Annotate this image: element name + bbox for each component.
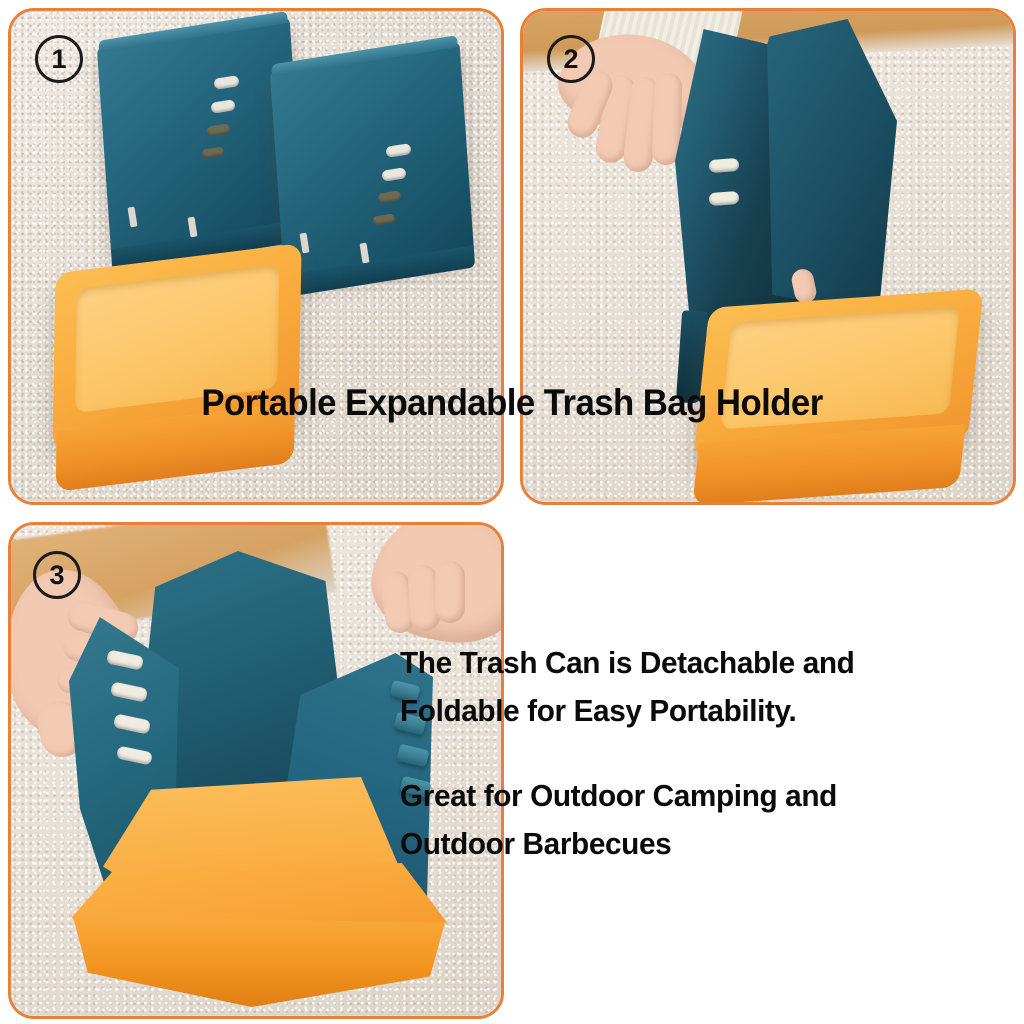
feature-line-1: The Trash Can is Detachable and [400, 643, 1000, 683]
product-title-overlay: Portable Expandable Trash Bag Holder [31, 382, 994, 424]
teal-folded-panel-left [97, 18, 304, 259]
panel-face [97, 18, 304, 259]
feature-line-3: Great for Outdoor Camping and [400, 776, 1000, 816]
infographic-canvas: 1 2 [0, 0, 1024, 1024]
lid-slot [709, 191, 740, 206]
feature-line-4: Outdoor Barbecues [400, 824, 1000, 864]
text-spacer [400, 738, 1000, 776]
step-number-badge-2: 2 [547, 35, 595, 83]
feature-text-block: The Trash Can is Detachable and Foldable… [400, 643, 1000, 872]
product-panel-1: 1 [8, 8, 504, 505]
feature-line-2: Foldable for Easy Portability. [400, 691, 1000, 731]
finger [435, 561, 465, 623]
product-panel-2: 2 [520, 8, 1016, 505]
step-number-badge-3: 3 [33, 551, 81, 599]
step-number-badge-1: 1 [35, 35, 83, 83]
lid-slot [709, 158, 740, 173]
orange-tray-base [693, 289, 983, 460]
